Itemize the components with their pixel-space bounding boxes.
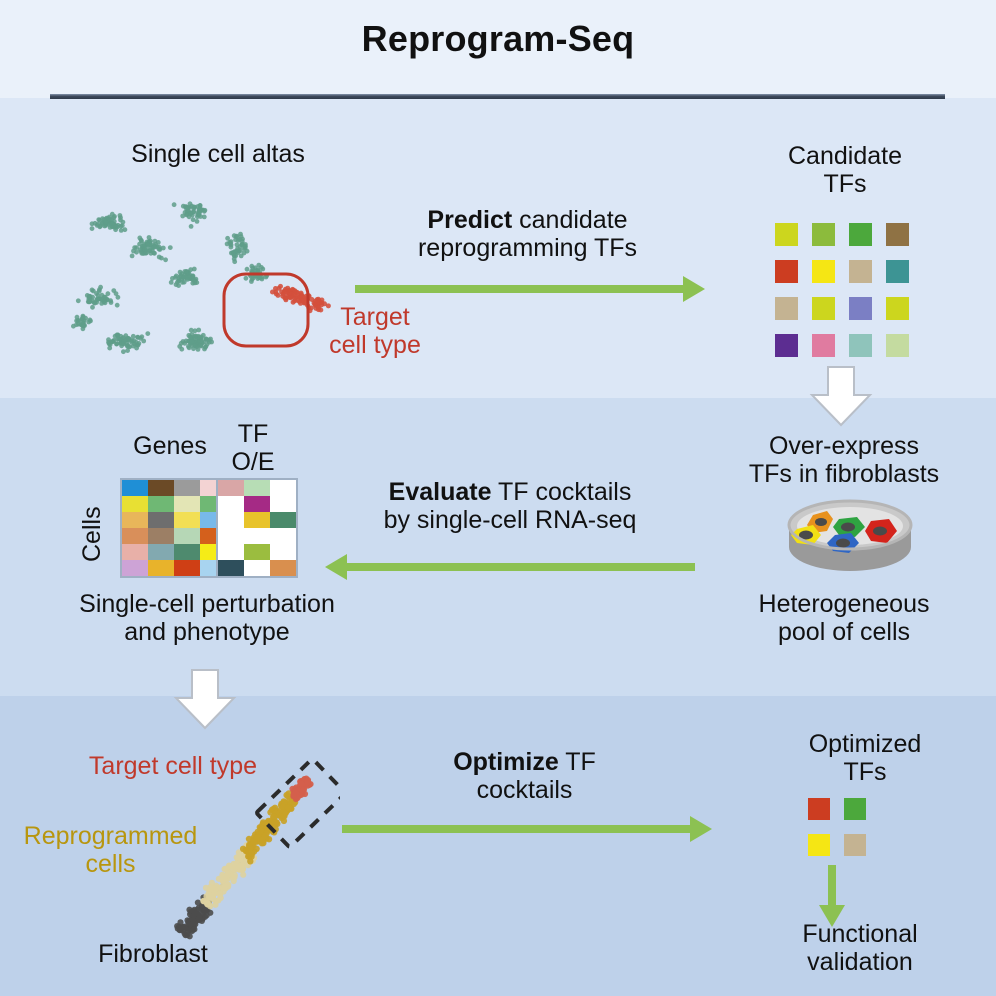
optimize-arrow: [342, 825, 692, 833]
cells-axis-label: Cells: [78, 506, 107, 562]
candidate-tf-square-9: [812, 297, 835, 320]
candidate-tf-square-10: [849, 297, 872, 320]
genes-cell-1: [148, 480, 174, 496]
predict-bold: Predict: [427, 206, 512, 234]
target-cell-type-highlight: [222, 272, 310, 348]
functional-validation-label: Functional validation: [730, 920, 990, 976]
overexpress-line2: TFs in fibroblasts: [706, 460, 982, 488]
genes-cell-17: [148, 544, 174, 560]
down-arrow-perturbation-to-optimize: [172, 668, 238, 730]
genes-cell-5: [148, 496, 174, 512]
validation-line1: Functional: [730, 920, 990, 948]
optimized-tfs-line2: TFs: [750, 758, 980, 786]
optimized-tfs-grid: [808, 798, 866, 856]
candidate-tf-square-2: [849, 223, 872, 246]
down-arrow-candidate-to-overexpress: [808, 365, 874, 427]
tfoe-cell-14: [270, 544, 296, 560]
tfoe-line2: O/E: [208, 448, 298, 476]
candidate-tfs-line1: Candidate: [730, 142, 960, 170]
tfoe-cell-15: [218, 560, 244, 576]
reprogramming-trajectory-scatter: [140, 755, 340, 955]
tfoe-cell-16: [244, 560, 270, 576]
fibroblast-label: Fibroblast: [48, 940, 258, 968]
candidate-tf-square-7: [886, 260, 909, 283]
title-divider: [50, 94, 945, 99]
validation-arrow: [828, 865, 836, 907]
petri-dish-icon: [785, 495, 915, 575]
candidate-tf-square-3: [886, 223, 909, 246]
candidate-tf-square-15: [886, 334, 909, 357]
optimize-line2: cocktails: [352, 776, 697, 804]
single-cell-perturbation-caption: Single-cell perturbation and phenotype: [42, 590, 372, 646]
predict-arrow-text: Predict candidate reprogramming TFs: [355, 206, 700, 262]
optimize-arrow-text: Optimize TF cocktails: [352, 748, 697, 804]
genes-heatmap: [120, 478, 228, 578]
tfoe-cell-7: [244, 512, 270, 528]
candidate-tf-square-4: [775, 260, 798, 283]
candidate-tf-square-14: [849, 334, 872, 357]
target-label-line2: cell type: [300, 331, 450, 359]
genes-cell-21: [148, 560, 174, 576]
tfoe-cell-5: [270, 496, 296, 512]
tfoe-cell-8: [270, 512, 296, 528]
optimize-bold: Optimize: [453, 748, 559, 776]
evaluate-rest: TF cocktails: [492, 478, 632, 506]
genes-cell-22: [174, 560, 200, 576]
predict-rest: candidate: [512, 206, 627, 234]
genes-cell-4: [122, 496, 148, 512]
target-cell-type-label-top: Target cell type: [300, 303, 450, 359]
genes-cell-13: [148, 528, 174, 544]
genes-cell-12: [122, 528, 148, 544]
genes-cell-18: [174, 544, 200, 560]
candidate-tf-square-5: [812, 260, 835, 283]
candidate-tf-square-6: [849, 260, 872, 283]
validation-line2: validation: [730, 948, 990, 976]
optimized-tf-square-3: [844, 834, 866, 856]
evaluate-line2: by single-cell RNA-seq: [315, 506, 705, 534]
candidate-tf-square-13: [812, 334, 835, 357]
optimize-rest: TF: [559, 748, 596, 776]
evaluate-arrow: [345, 563, 695, 571]
optimized-tf-square-1: [844, 798, 866, 820]
candidate-tfs-title: Candidate TFs: [730, 142, 960, 198]
tfoe-cell-2: [270, 480, 296, 496]
tfoe-heatmap: [216, 478, 298, 578]
candidate-tfs-line2: TFs: [730, 170, 960, 198]
perturbation-line1: Single-cell perturbation: [42, 590, 372, 618]
figure-title: Reprogram-Seq: [0, 18, 996, 60]
tfoe-cell-13: [244, 544, 270, 560]
genes-cell-6: [174, 496, 200, 512]
target-label-line1: Target: [300, 303, 450, 331]
tfoe-cell-12: [218, 544, 244, 560]
evaluate-bold: Evaluate: [389, 478, 492, 506]
tfoe-cell-10: [244, 528, 270, 544]
pool-line2: pool of cells: [700, 618, 988, 646]
candidate-tf-square-8: [775, 297, 798, 320]
candidate-tf-square-12: [775, 334, 798, 357]
tfoe-cell-3: [218, 496, 244, 512]
figure-root: Reprogram-Seq Single cell altas Target c…: [0, 0, 996, 996]
tfoe-label: TF O/E: [208, 420, 298, 476]
optimized-tf-square-0: [808, 798, 830, 820]
genes-cell-20: [122, 560, 148, 576]
tfoe-line1: TF: [208, 420, 298, 448]
genes-cell-0: [122, 480, 148, 496]
pool-line1: Heterogeneous: [700, 590, 988, 618]
tfoe-cell-0: [218, 480, 244, 496]
single-cell-atlas-label: Single cell altas: [78, 140, 358, 168]
heterogeneous-pool-label: Heterogeneous pool of cells: [700, 590, 988, 646]
tfoe-cell-6: [218, 512, 244, 528]
genes-cell-16: [122, 544, 148, 560]
candidate-tf-square-0: [775, 223, 798, 246]
candidate-tf-square-11: [886, 297, 909, 320]
tfoe-cell-4: [244, 496, 270, 512]
candidate-tf-square-1: [812, 223, 835, 246]
genes-cell-8: [122, 512, 148, 528]
predict-arrow: [355, 285, 685, 293]
genes-cell-10: [174, 512, 200, 528]
overexpress-line1: Over-express: [706, 432, 982, 460]
candidate-tfs-grid: [775, 223, 909, 357]
genes-cell-2: [174, 480, 200, 496]
tfoe-cell-9: [218, 528, 244, 544]
tfoe-cell-11: [270, 528, 296, 544]
optimized-tf-square-2: [808, 834, 830, 856]
predict-line2: reprogramming TFs: [355, 234, 700, 262]
perturbation-line2: and phenotype: [42, 618, 372, 646]
optimized-tfs-title: Optimized TFs: [750, 730, 980, 786]
tfoe-cell-17: [270, 560, 296, 576]
genes-cell-9: [148, 512, 174, 528]
optimized-tfs-line1: Optimized: [750, 730, 980, 758]
tfoe-cell-1: [244, 480, 270, 496]
genes-cell-14: [174, 528, 200, 544]
overexpress-label: Over-express TFs in fibroblasts: [706, 432, 982, 488]
evaluate-arrow-text: Evaluate TF cocktails by single-cell RNA…: [315, 478, 705, 534]
